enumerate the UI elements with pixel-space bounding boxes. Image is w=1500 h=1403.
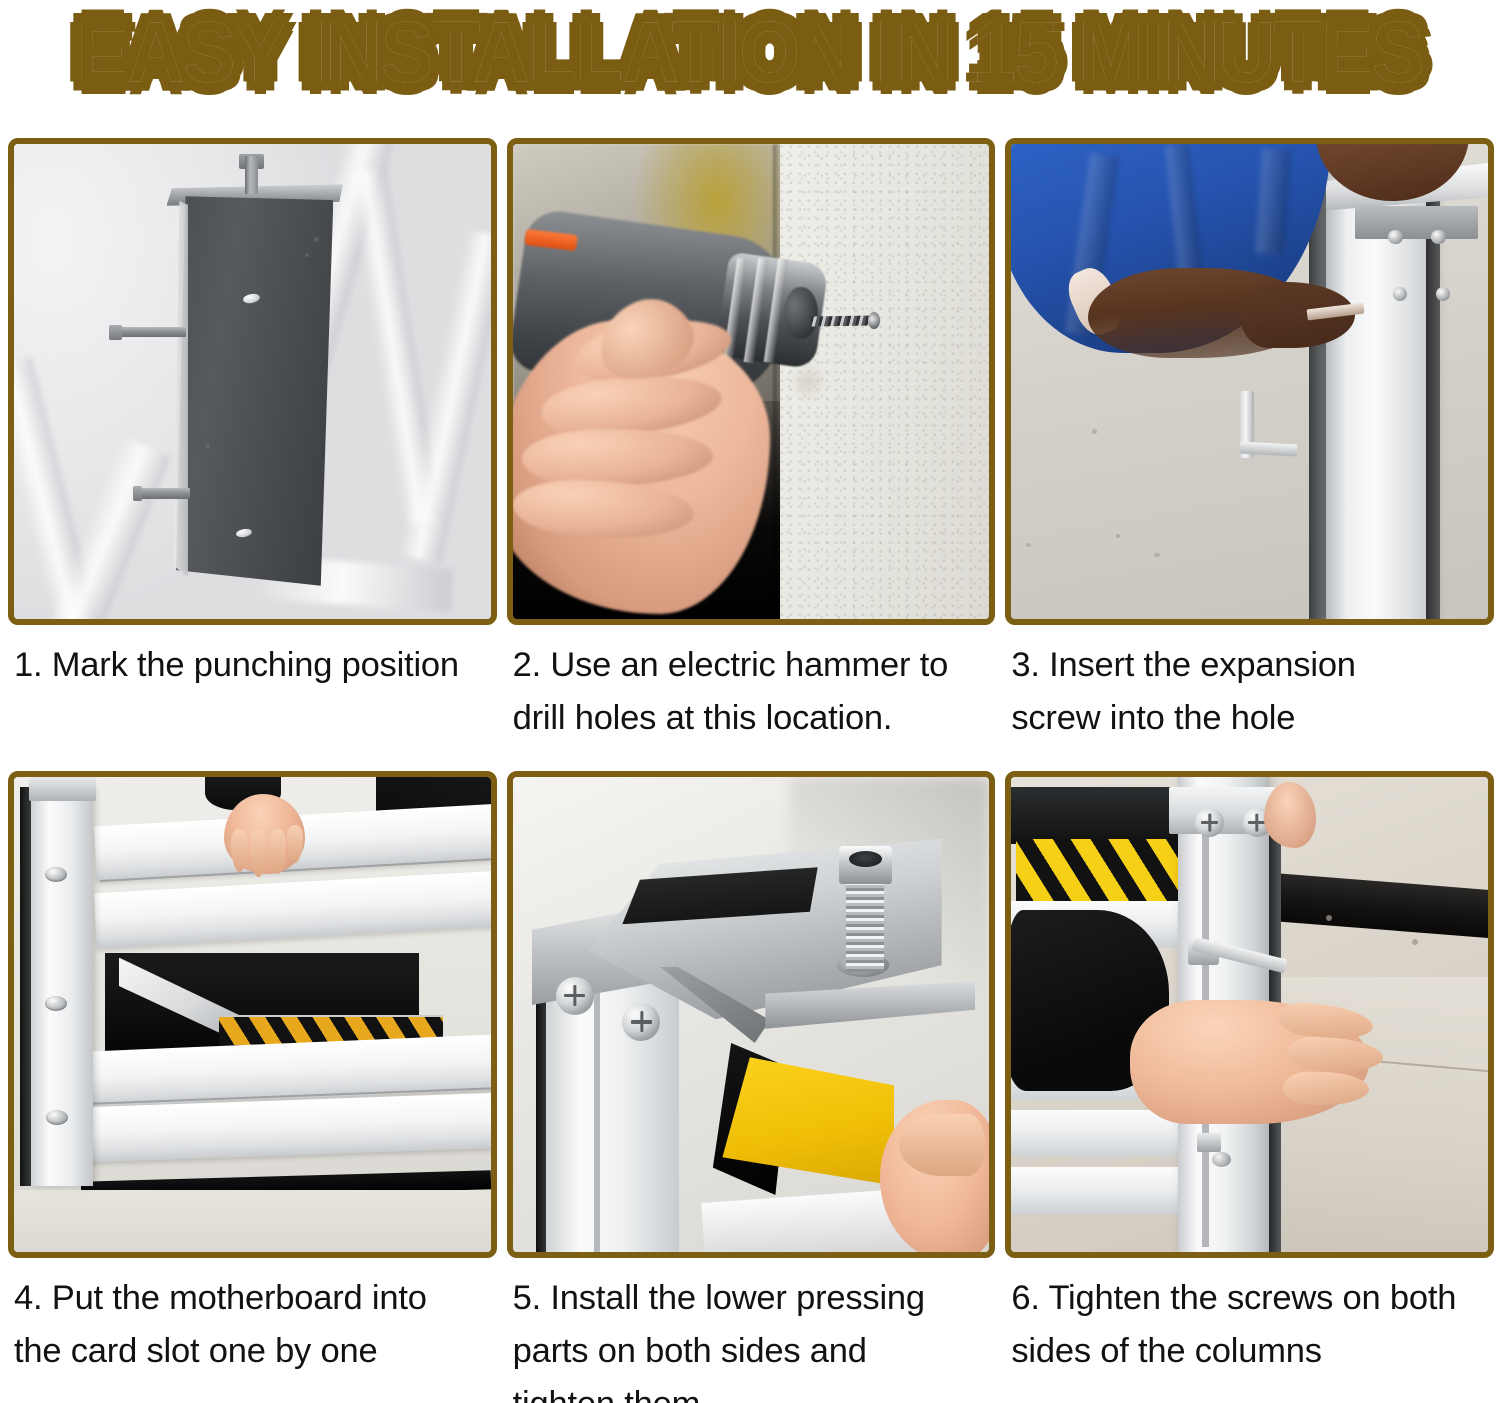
step-photo-mark-punching-position — [8, 138, 497, 625]
dark-background-area — [1011, 787, 1187, 844]
installation-guide-page: EASY INSTALLATION IN 15 MINUTES — [0, 0, 1500, 1403]
caption-line: 5. Install the lower pressing — [513, 1272, 992, 1325]
top-bolt-shaft — [245, 156, 257, 194]
step-4-caption: 4. Put the motherboard into the card slo… — [8, 1258, 497, 1388]
lower-column-screw-head — [1212, 1152, 1231, 1167]
caption-line: 4. Put the motherboard into — [14, 1272, 493, 1325]
steps-grid: 1. Mark the punching position 2. Use an … — [8, 138, 1494, 1388]
step-6-image-cell — [1005, 771, 1494, 1258]
step-4-image-cell — [8, 771, 497, 1258]
barrier-board — [1011, 1167, 1192, 1215]
screw-head — [109, 325, 121, 340]
expansion-screw-upper — [109, 327, 185, 337]
wall-corner-edge — [773, 144, 780, 619]
screw-shaft — [141, 488, 190, 498]
drill-nose — [784, 287, 817, 339]
column-bolt — [46, 1110, 68, 1125]
lower-column-screw — [1197, 1133, 1221, 1152]
screw-head — [133, 486, 142, 501]
plate-screw — [1388, 230, 1403, 245]
step-photo-insert-expansion-screw — [1005, 138, 1494, 625]
drill-dust — [789, 363, 827, 401]
floor-speck — [1116, 534, 1120, 538]
expansion-screw-lower — [133, 488, 190, 498]
step-5-image-cell — [507, 771, 996, 1258]
step-5-caption: 5. Install the lower pressing parts on b… — [507, 1258, 996, 1388]
floor-speck — [1154, 553, 1160, 557]
caption-line: 6. Tighten the screws on both — [1011, 1272, 1490, 1325]
photo-canvas-1 — [14, 144, 491, 619]
screw-shaft — [120, 327, 186, 337]
floor-surface — [14, 1190, 491, 1252]
photo-canvas-6 — [1011, 777, 1488, 1252]
baseboard-fastener — [1412, 939, 1418, 945]
finger — [899, 1114, 985, 1176]
step-2-caption: 2. Use an electric hammer to drill holes… — [507, 625, 996, 771]
caption-line: 1. Mark the punching position — [14, 639, 493, 692]
step-3-image-cell — [1005, 138, 1494, 625]
step-2-image-cell — [507, 138, 996, 625]
surface-speck — [305, 253, 309, 257]
page-title: EASY INSTALLATION IN 15 MINUTES — [77, 7, 1424, 98]
surface-speck — [314, 237, 319, 242]
caption-line: screw into the hole — [1011, 692, 1490, 745]
masonry-drill-bit — [810, 315, 872, 326]
threaded-bolt-shaft — [846, 882, 884, 972]
caption-line: 2. Use an electric hammer to — [513, 639, 992, 692]
step-photo-install-pressing-parts — [507, 771, 996, 1258]
step-1-caption: 1. Mark the punching position — [8, 625, 497, 771]
caption-line: parts on both sides and — [513, 1325, 992, 1378]
step-photo-drill-holes — [507, 138, 996, 625]
hazard-stripe-tape — [1016, 839, 1183, 901]
caption-line: sides of the columns — [1011, 1325, 1490, 1378]
caption-line: tighten them — [513, 1378, 992, 1403]
column-groove — [594, 972, 601, 1252]
photo-canvas-4 — [14, 777, 491, 1252]
surface-speck — [205, 443, 210, 448]
step-3-caption: 3. Insert the expansion screw into the h… — [1005, 625, 1494, 771]
step-photo-insert-boards-into-slot — [8, 771, 497, 1258]
caption-line: the card slot one by one — [14, 1325, 493, 1378]
column-side-edge — [174, 201, 188, 581]
caption-line: 3. Insert the expansion — [1011, 639, 1490, 692]
floor-speck — [1026, 543, 1031, 547]
photo-canvas-3 — [1011, 144, 1488, 619]
page-title-banner: EASY INSTALLATION IN 15 MINUTES — [0, 0, 1500, 105]
step-6-caption: 6. Tighten the screws on both sides of t… — [1005, 1258, 1494, 1388]
baseboard-fastener — [1326, 915, 1332, 921]
caption-line: drill holes at this location. — [513, 692, 992, 745]
phillips-screw — [622, 1003, 660, 1041]
aluminum-column — [1326, 173, 1440, 620]
phillips-screw — [556, 977, 594, 1015]
step-1-image-cell — [8, 138, 497, 625]
column-top-cap — [29, 777, 96, 801]
bolt-socket-hole — [849, 851, 882, 867]
step-photo-tighten-column-screws — [1005, 771, 1494, 1258]
mounting-plate — [1355, 206, 1479, 239]
photo-canvas-2 — [513, 144, 990, 619]
column-bolt — [45, 996, 67, 1011]
plate-screw — [1431, 230, 1446, 245]
aluminum-column — [31, 787, 93, 1186]
photo-canvas-5 — [513, 777, 990, 1252]
mounting-column — [176, 196, 333, 586]
